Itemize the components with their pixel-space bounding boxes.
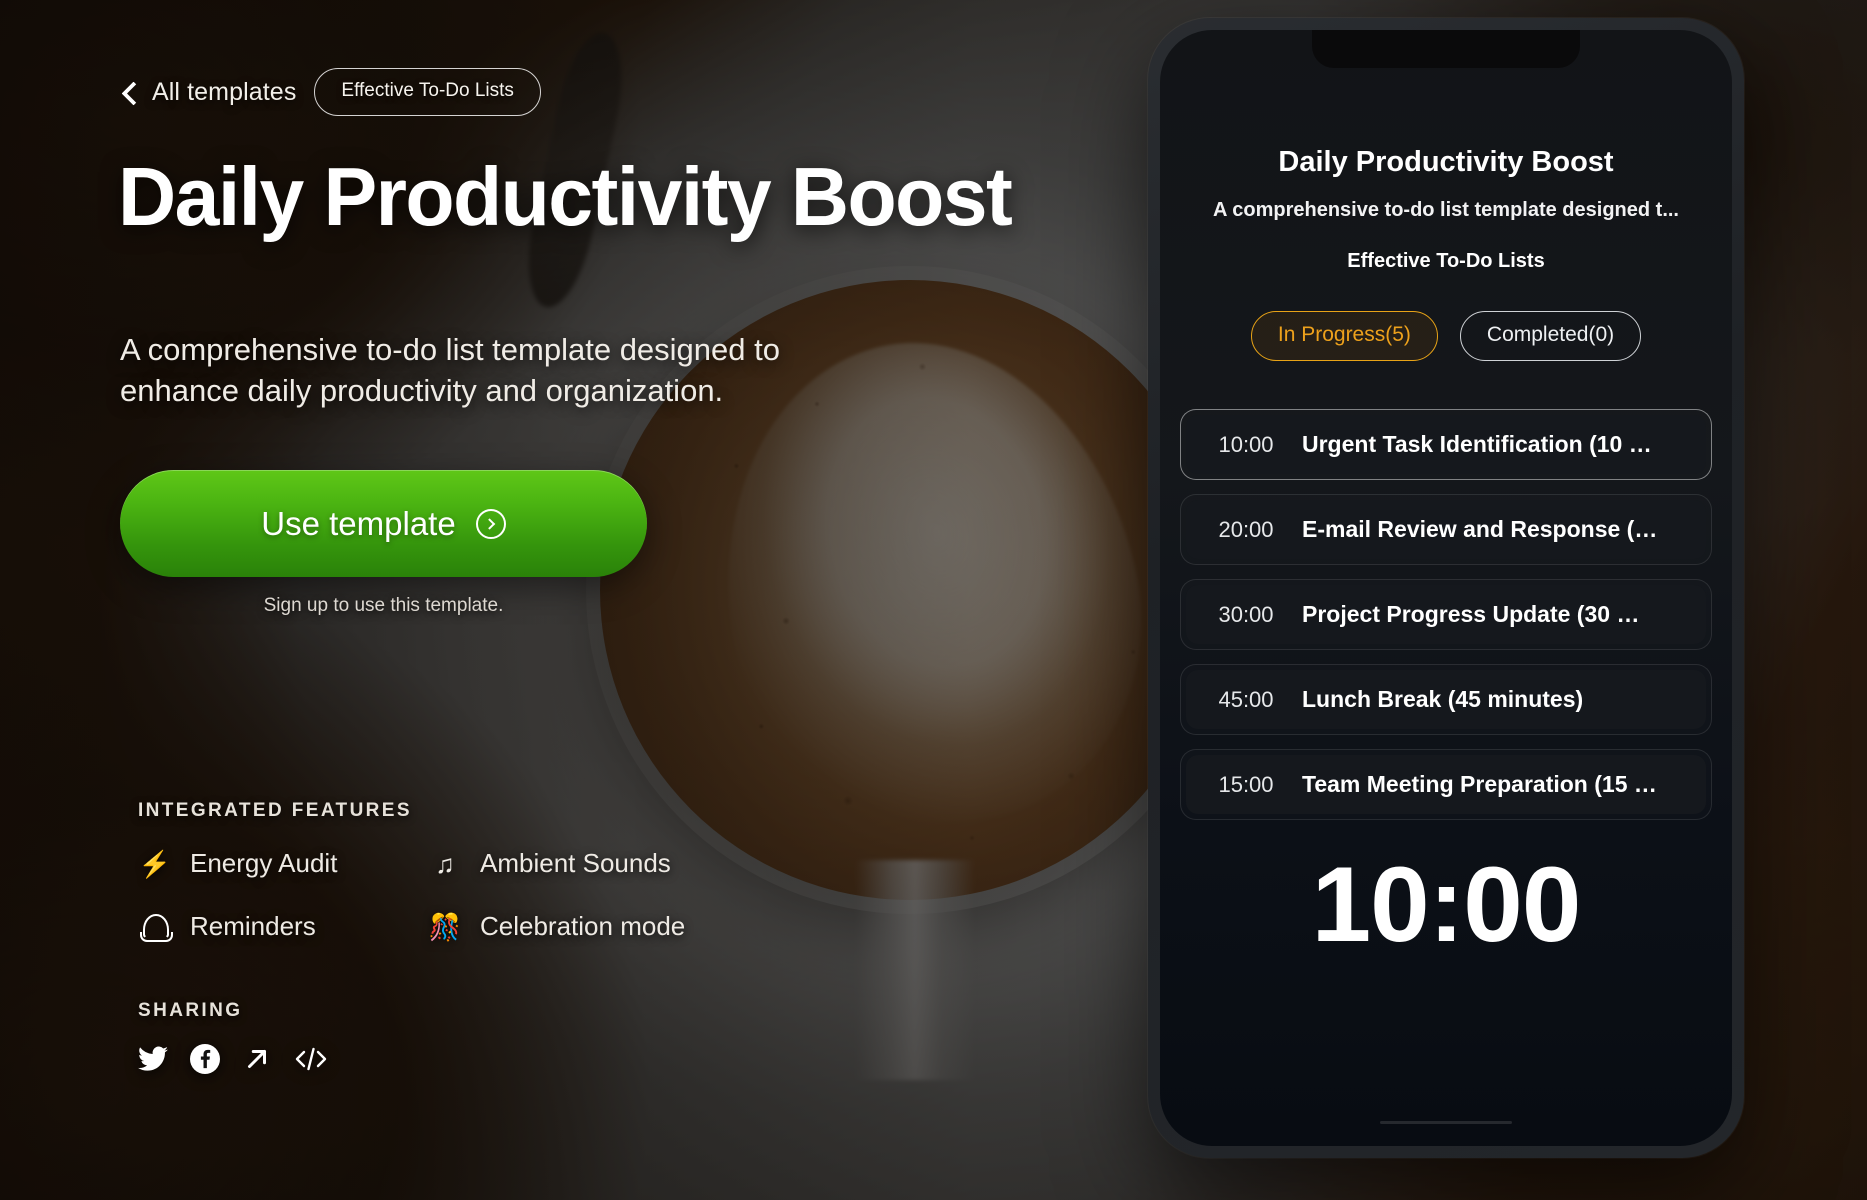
page-title: Daily Productivity Boost bbox=[118, 155, 1011, 238]
confetti-icon: 🎊 bbox=[428, 914, 462, 940]
features-grid: ⚡ Energy Audit ♫ Ambient Sounds Reminder… bbox=[138, 848, 778, 942]
task-row[interactable]: 30:00 Project Progress Update (30 … bbox=[1180, 579, 1712, 650]
sharing-heading: SHARING bbox=[138, 1000, 328, 1022]
page-description: A comprehensive to-do list template desi… bbox=[120, 330, 840, 412]
feature-reminders: Reminders bbox=[138, 911, 428, 942]
app-subtitle: Effective To-Do Lists bbox=[1160, 250, 1732, 273]
integrated-features-section: INTEGRATED FEATURES ⚡ Energy Audit ♫ Amb… bbox=[138, 800, 778, 942]
feature-ambient-sounds: ♫ Ambient Sounds bbox=[428, 848, 718, 879]
embed-code-icon[interactable] bbox=[294, 1045, 328, 1073]
breadcrumb: All templates Effective To-Do Lists bbox=[122, 68, 541, 116]
feature-label: Energy Audit bbox=[190, 848, 337, 879]
tab-completed[interactable]: Completed(0) bbox=[1460, 311, 1641, 361]
app-description: A comprehensive to-do list template desi… bbox=[1190, 199, 1702, 222]
use-template-label: Use template bbox=[261, 505, 455, 543]
task-name[interactable]: E-mail Review and Response (… bbox=[1302, 516, 1692, 543]
task-name[interactable]: Urgent Task Identification (10 … bbox=[1302, 431, 1692, 458]
task-time: 15:00 bbox=[1200, 772, 1292, 798]
feature-celebration-mode: 🎊 Celebration mode bbox=[428, 911, 718, 942]
task-name[interactable]: Project Progress Update (30 … bbox=[1302, 601, 1692, 628]
task-row[interactable]: 20:00 E-mail Review and Response (… bbox=[1180, 494, 1712, 565]
task-list: 10:00 Urgent Task Identification (10 … 2… bbox=[1180, 409, 1712, 820]
task-row[interactable]: 10:00 Urgent Task Identification (10 … bbox=[1180, 409, 1712, 480]
arrow-right-circle-icon bbox=[476, 509, 506, 539]
back-to-all-templates-link[interactable]: All templates bbox=[122, 78, 296, 107]
share-buttons-row bbox=[138, 1044, 328, 1074]
external-link-icon[interactable] bbox=[242, 1044, 272, 1074]
feature-energy-audit: ⚡ Energy Audit bbox=[138, 848, 428, 879]
phone-screen: Daily Productivity Boost A comprehensive… bbox=[1160, 30, 1732, 1146]
signup-note: Sign up to use this template. bbox=[120, 595, 647, 617]
feature-label: Reminders bbox=[190, 911, 316, 942]
app-title: Daily Productivity Boost bbox=[1160, 146, 1732, 179]
filter-tabs: In Progress(5) Completed(0) bbox=[1160, 311, 1732, 361]
chevron-left-icon bbox=[122, 84, 138, 100]
task-time: 10:00 bbox=[1200, 432, 1292, 458]
phone-mockup: Daily Productivity Boost A comprehensive… bbox=[1148, 18, 1744, 1158]
countdown-timer: 10:00 bbox=[1160, 846, 1732, 964]
home-indicator bbox=[1380, 1121, 1512, 1124]
left-content-panel: All templates Effective To-Do Lists Dail… bbox=[0, 0, 980, 1200]
phone-notch bbox=[1312, 30, 1580, 68]
category-tag-chip[interactable]: Effective To-Do Lists bbox=[314, 68, 540, 116]
music-note-icon: ♫ bbox=[428, 851, 462, 877]
task-time: 20:00 bbox=[1200, 517, 1292, 543]
task-name[interactable]: Lunch Break (45 minutes) bbox=[1302, 686, 1692, 713]
task-time: 30:00 bbox=[1200, 602, 1292, 628]
task-row[interactable]: 15:00 Team Meeting Preparation (15 … bbox=[1180, 749, 1712, 820]
sharing-section: SHARING bbox=[138, 1000, 328, 1074]
tab-in-progress[interactable]: In Progress(5) bbox=[1251, 311, 1438, 361]
bell-icon bbox=[138, 912, 172, 942]
feature-label: Celebration mode bbox=[480, 911, 685, 942]
back-link-label: All templates bbox=[152, 78, 296, 107]
task-name[interactable]: Team Meeting Preparation (15 … bbox=[1302, 771, 1692, 798]
cta-section: Use template Sign up to use this templat… bbox=[120, 470, 647, 617]
task-time: 45:00 bbox=[1200, 687, 1292, 713]
use-template-button[interactable]: Use template bbox=[120, 470, 647, 577]
template-detail-page: All templates Effective To-Do Lists Dail… bbox=[0, 0, 1867, 1200]
lightning-bolt-icon: ⚡ bbox=[138, 851, 172, 877]
feature-label: Ambient Sounds bbox=[480, 848, 671, 879]
twitter-share-icon[interactable] bbox=[138, 1046, 168, 1072]
facebook-share-icon[interactable] bbox=[190, 1044, 220, 1074]
features-heading: INTEGRATED FEATURES bbox=[138, 800, 778, 822]
task-row[interactable]: 45:00 Lunch Break (45 minutes) bbox=[1180, 664, 1712, 735]
